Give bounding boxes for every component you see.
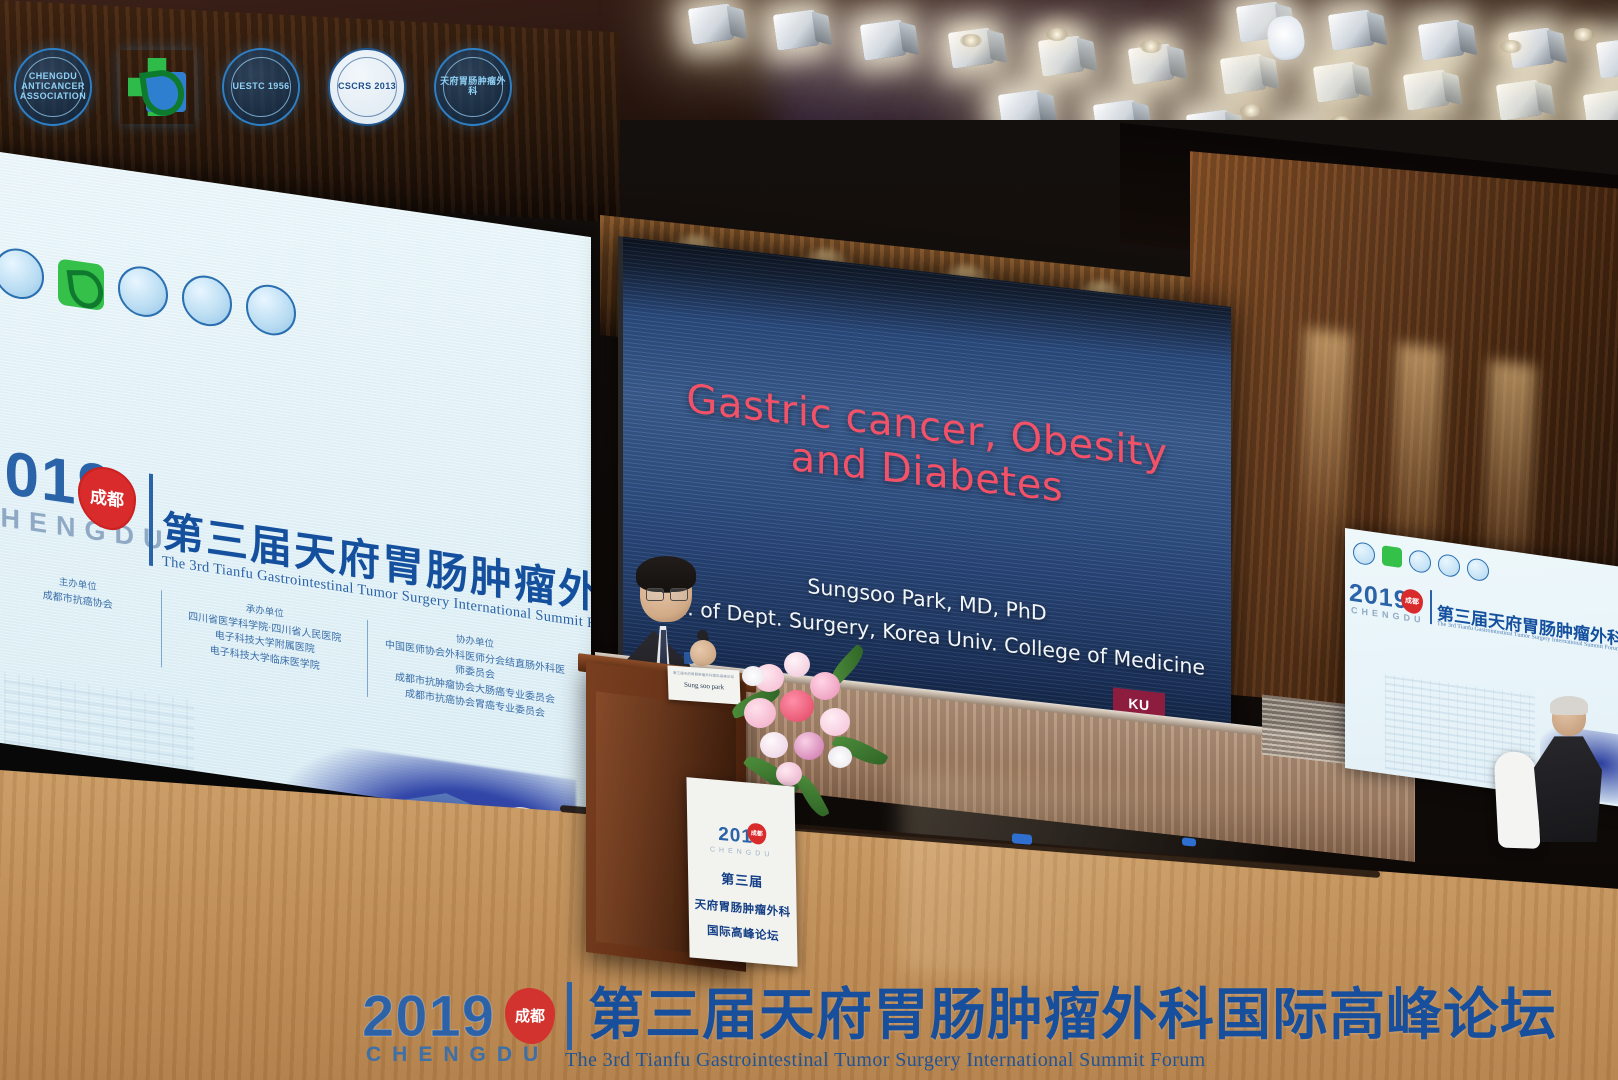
ceiling-downlight: [960, 34, 982, 47]
sign-line-2: 天府胃肠肿瘤外科: [688, 895, 796, 920]
ceiling-downlight: [1572, 28, 1594, 41]
ceiling-spotlight: [1220, 53, 1267, 94]
ceiling-spotlight: [1596, 37, 1618, 78]
ceiling-spotlight: [1496, 79, 1543, 120]
chengdu-anticancer-association-icon: [1353, 541, 1375, 566]
logo-text: UESTC 1956: [224, 50, 298, 124]
tianfu-gi-surgery-icon: [246, 281, 296, 338]
podium-sign: 2019 成都 CHENGDU 第三届 天府胃肠肿瘤外科 国际高峰论坛: [686, 777, 797, 967]
ceiling-downlight: [1140, 40, 1162, 53]
eyeglasses-icon: [646, 588, 688, 599]
logo-text: CSCRS 2013: [330, 50, 404, 124]
cscrs-icon: [1438, 553, 1460, 578]
tianfu-gi-surgery-icon: [1467, 557, 1489, 582]
organization-logo-strip: CHENGDU ANTICANCER ASSOCIATION UESTC 195…: [14, 48, 512, 126]
left-projection-screen: 2019 CHENGDU 成都 第三届天府胃肠肿瘤外科国际高峰论坛 The 3r…: [0, 150, 591, 857]
uestc-icon: [118, 263, 168, 320]
chengdu-anticancer-association-icon: [0, 245, 44, 302]
sign-line-1: 第三届: [688, 865, 796, 893]
wall-vent: [1262, 695, 1358, 766]
logo-text: CHENGDU ANTICANCER ASSOCIATION: [16, 50, 90, 124]
green-cross-hospital-icon: [120, 50, 194, 124]
floor-reflection: [900, 771, 1420, 1009]
ceiling-spotlight: [1418, 19, 1465, 60]
ceiling-spotlight: [860, 19, 907, 60]
chair: [1494, 751, 1541, 849]
green-cross-hospital-icon: [1382, 545, 1402, 568]
ceiling-downlight: [1240, 104, 1262, 117]
logo-text: 天府胃肠肿瘤外科: [436, 50, 510, 124]
ceiling-spotlight: [773, 9, 820, 50]
divider: [149, 473, 153, 566]
sign-line-3: 国际高峰论坛: [689, 920, 797, 945]
ceiling-spotlight: [1038, 35, 1085, 76]
ceiling-spotlight: [1403, 69, 1450, 110]
cscrs-icon: CSCRS 2013: [328, 48, 406, 126]
ceiling-downlight: [1046, 28, 1068, 41]
kumc-logo-top: KU: [1128, 695, 1149, 713]
divider: [1430, 590, 1432, 624]
conference-photo: CHENGDU ANTICANCER ASSOCIATION UESTC 195…: [0, 0, 1618, 1080]
screen-logo-row: [1353, 541, 1489, 582]
uestc-icon: UESTC 1956: [222, 48, 300, 126]
tianfu-gi-surgery-icon: 天府胃肠肿瘤外科: [434, 48, 512, 126]
speaker-hair: [636, 556, 696, 592]
speaker-name-card: 第三届天府胃肠肿瘤外科国际高峰论坛 Sung soo park: [667, 665, 740, 704]
ceiling-spotlight: [1313, 61, 1360, 102]
uestc-icon: [1409, 549, 1431, 574]
cable-connector: [1182, 837, 1196, 846]
chengdu-anticancer-association-icon: CHENGDU ANTICANCER ASSOCIATION: [14, 48, 92, 126]
seated-attendee-hair: [1550, 696, 1588, 715]
ceiling-spotlight: [1328, 9, 1375, 50]
ceiling-downlight: [1500, 40, 1522, 53]
cscrs-icon: [182, 272, 232, 329]
green-cross-hospital-icon: [58, 258, 104, 311]
ceiling-spotlight: [688, 3, 735, 44]
cable-connector: [1012, 833, 1032, 845]
